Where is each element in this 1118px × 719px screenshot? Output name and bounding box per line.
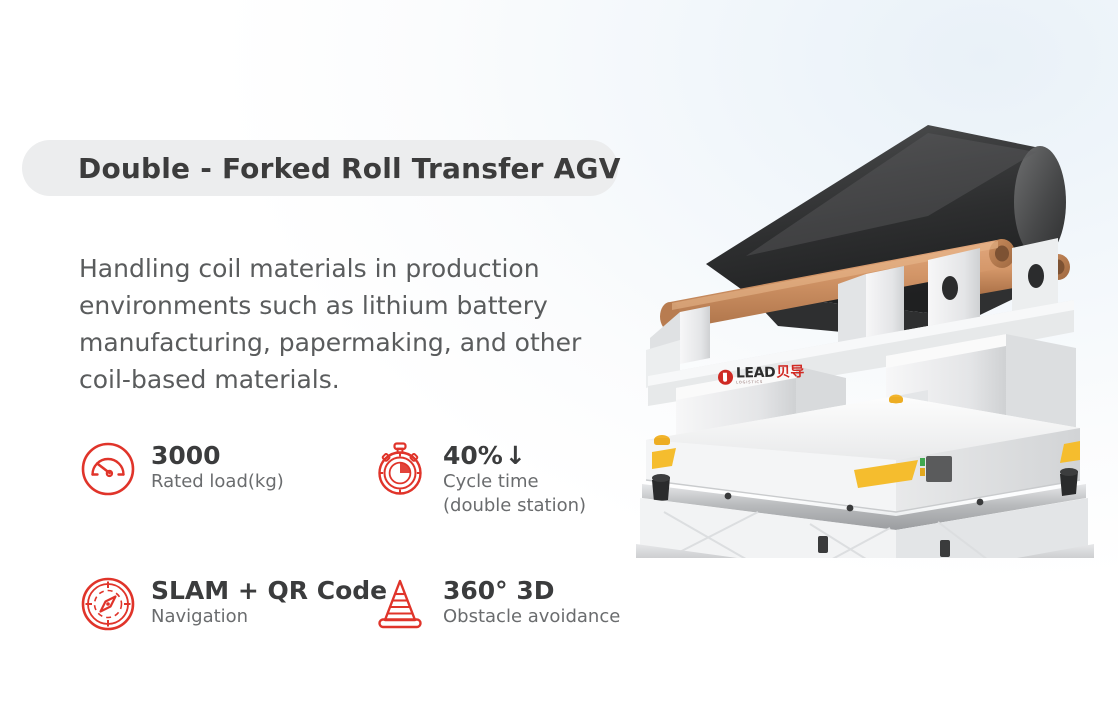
brand-mark-icon [718,369,733,384]
spec-value-number: 360° 3D [443,577,555,605]
spec-label-secondary: (double station) [443,495,586,516]
spec-grid: 3000 Rated load(kg) [79,438,659,633]
spec-value-number: 40% [443,442,503,470]
compass-icon [79,575,137,633]
product-image-agv [628,88,1118,558]
spec-label: Rated load(kg) [151,471,284,492]
spec-value-number: 3000 [151,442,221,470]
brand-wordmark-cjk: 贝导 [776,366,804,380]
brand-wordmark: LEAD [736,367,776,381]
spec-value: SLAM + QR Code [151,577,387,605]
spec-label: Obstacle avoidance [443,606,620,627]
spec-text: 360° 3D Obstacle avoidance [443,573,620,629]
spec-text: 40% ↓ Cycle time (double station) [443,438,659,518]
spec-row: 3000 Rated load(kg) [79,438,659,518]
page-title-pill: Double - Forked Roll Transfer AGV [22,140,618,196]
page-title: Double - Forked Roll Transfer AGV [78,152,621,185]
spec-value: 40% ↓ [443,442,659,470]
spec-item-navigation: SLAM + QR Code Navigation [79,573,371,633]
spec-value: 3000 [151,442,284,470]
spec-text: 3000 Rated load(kg) [151,438,284,494]
spec-label: Navigation [151,606,248,627]
spec-row: SLAM + QR Code Navigation [79,573,659,633]
brand-wordmark-stack: LEAD 贝导 LOGISTICS [736,366,805,385]
product-slide: Double - Forked Roll Transfer AGV Handli… [0,0,1118,719]
spec-value: 360° 3D [443,577,620,605]
gauge-icon [79,440,137,498]
agv-brand-logo: LEAD 贝导 LOGISTICS [718,366,805,386]
traffic-cone-icon [371,575,429,633]
spec-item-rated-load: 3000 Rated load(kg) [79,438,371,518]
spec-text: SLAM + QR Code Navigation [151,573,387,629]
spec-item-cycle-time: 40% ↓ Cycle time (double station) [371,438,659,518]
spec-value-number: SLAM + QR Code [151,577,387,605]
spec-label: Cycle time [443,471,539,492]
description-text: Handling coil materials in production en… [79,250,639,398]
stopwatch-icon [371,440,429,498]
spec-item-obstacle-avoidance: 360° 3D Obstacle avoidance [371,573,659,633]
down-arrow-icon: ↓ [505,442,526,470]
